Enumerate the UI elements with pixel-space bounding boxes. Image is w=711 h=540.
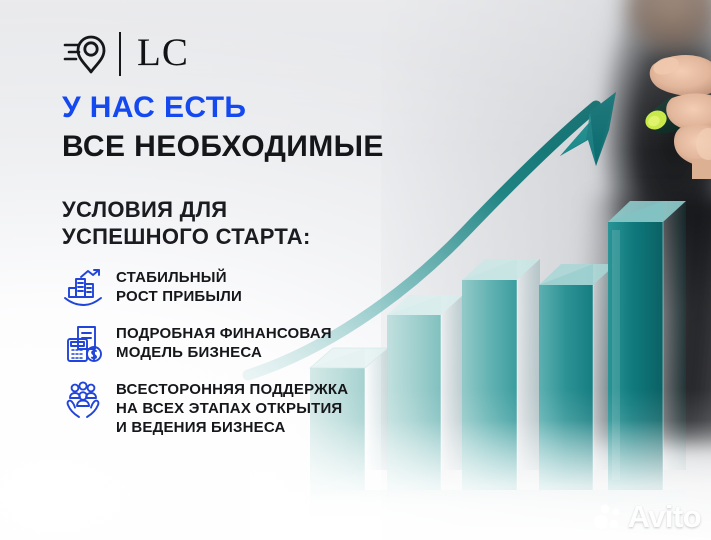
list-item-text: СТАБИЛЬНЫЙ РОСТ ПРИБЫЛИ [116, 266, 242, 306]
benefit-1-line-1: СТАБИЛЬНЫЙ [116, 268, 242, 287]
logo-wordmark: LC [134, 33, 189, 75]
brand-logo[interactable]: LC [62, 32, 189, 76]
hand-holding-marker [596, 0, 711, 179]
list-item-text: ПОДРОБНАЯ ФИНАНСОВАЯ МОДЕЛЬ БИЗНЕСА [116, 322, 332, 362]
benefit-2-line-1: ПОДРОБНАЯ ФИНАНСОВАЯ [116, 324, 332, 343]
benefit-2-line-2: МОДЕЛЬ БИЗНЕСА [116, 343, 332, 362]
list-item-text: ВСЕСТОРОННЯЯ ПОДДЕРЖКА НА ВСЕХ ЭТАПАХ ОТ… [116, 378, 348, 437]
benefit-3-line-2: НА ВСЕХ ЭТАПАХ ОТКРЫТИЯ [116, 399, 348, 418]
subheadline-line-2: УСПЕШНОГО СТАРТА: [62, 223, 422, 250]
list-item: СТАБИЛЬНЫЙ РОСТ ПРИБЫЛИ [62, 266, 432, 309]
promo-banner: LC У НАС ЕСТЬ ВСЕ НЕОБХОДИМЫЕ УСЛОВИЯ ДЛ… [0, 0, 711, 540]
headline-line-1: У НАС ЕСТЬ [62, 91, 492, 125]
logo-divider [119, 32, 121, 76]
location-pin-speed-icon [62, 32, 106, 76]
headline-line-2: ВСЕ НЕОБХОДИМЫЕ [62, 129, 492, 165]
benefit-3-line-1: ВСЕСТОРОННЯЯ ПОДДЕРЖКА [116, 380, 348, 399]
benefit-3-line-3: И ВЕДЕНИЯ БИЗНЕСА [116, 418, 348, 437]
hands-holding-people-icon [62, 379, 104, 421]
benefits-list: СТАБИЛЬНЫЙ РОСТ ПРИБЫЛИ [62, 266, 432, 450]
subheadline: УСЛОВИЯ ДЛЯ УСПЕШНОГО СТАРТА: [62, 196, 422, 250]
headline: У НАС ЕСТЬ ВСЕ НЕОБХОДИМЫЕ [62, 91, 492, 165]
list-item: ВСЕСТОРОННЯЯ ПОДДЕРЖКА НА ВСЕХ ЭТАПАХ ОТ… [62, 378, 432, 437]
hand-holding-buildings-growth-icon [62, 267, 104, 309]
avito-label: Avito [628, 501, 701, 532]
benefit-1-line-2: РОСТ ПРИБЫЛИ [116, 287, 242, 306]
avito-dots-icon [593, 502, 623, 532]
calculator-document-dollar-icon [62, 323, 104, 365]
list-item: ПОДРОБНАЯ ФИНАНСОВАЯ МОДЕЛЬ БИЗНЕСА [62, 322, 432, 365]
avito-watermark: Avito [593, 501, 701, 532]
subheadline-line-1: УСЛОВИЯ ДЛЯ [62, 196, 422, 223]
